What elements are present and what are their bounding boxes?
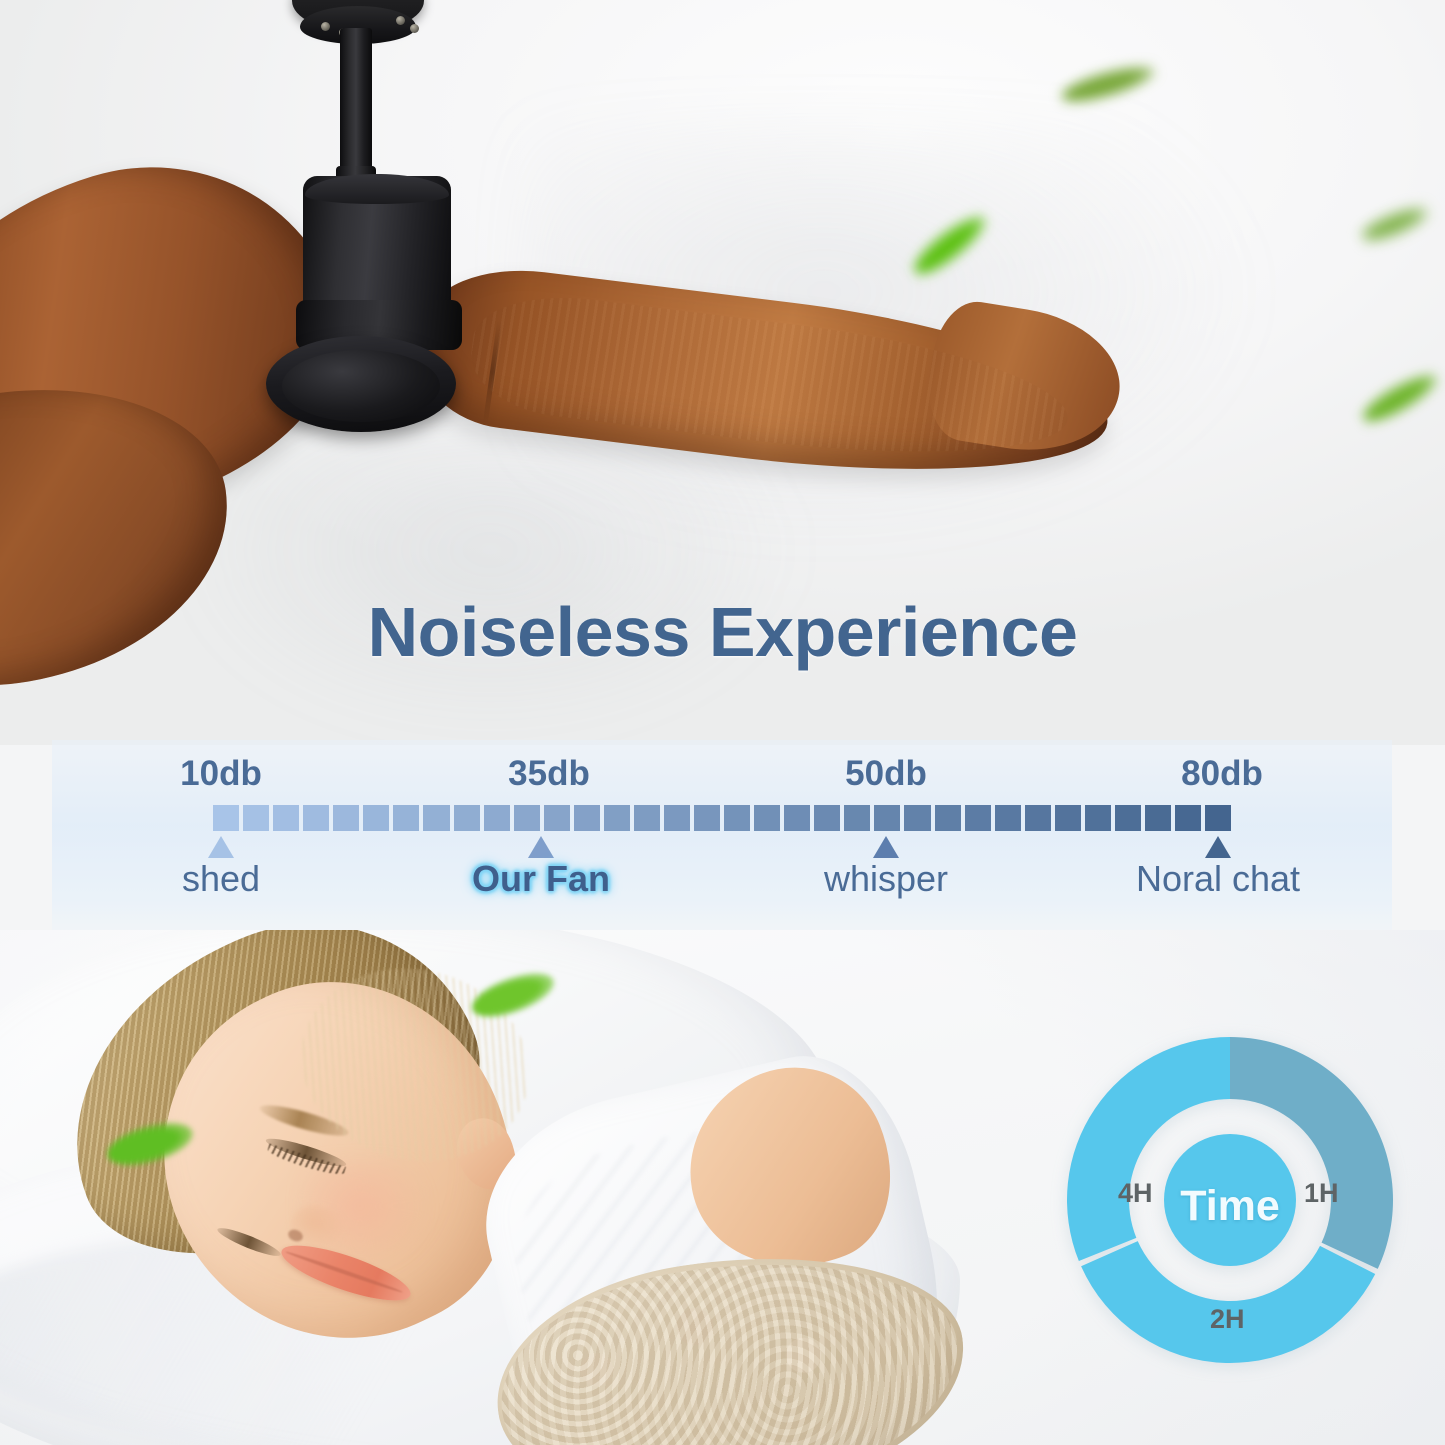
decibel-bar-segment <box>213 805 239 831</box>
decibel-label: 35db <box>508 754 590 794</box>
timer-hour-label: 1H <box>1304 1178 1339 1209</box>
decibel-bar-segment <box>1145 805 1171 831</box>
decibel-marker-row <box>0 836 1445 860</box>
decibel-label: 80db <box>1181 754 1263 794</box>
decibel-gradient-bar <box>213 805 1231 831</box>
floating-leaf-icon <box>1059 59 1158 109</box>
decibel-bar-segment <box>514 805 540 831</box>
product-feature-graphic: Noiseless Experience 10db35db50db80db sh… <box>0 0 1445 1445</box>
decibel-marker-triangle <box>528 836 554 858</box>
decibel-bar-segment <box>303 805 329 831</box>
noise-source-label: Noral chat <box>1136 858 1300 900</box>
wall-shadow-secondary <box>180 430 800 730</box>
decibel-bar-segment <box>874 805 900 831</box>
timer-hour-label: 4H <box>1118 1178 1153 1209</box>
decibel-bar-segment <box>1205 805 1231 831</box>
noise-source-label: whisper <box>824 858 948 900</box>
decibel-bar-segment <box>423 805 449 831</box>
decibel-bar-segment <box>333 805 359 831</box>
decibel-label-row: 10db35db50db80db <box>0 754 1445 802</box>
decibel-bar-segment <box>724 805 750 831</box>
noise-source-label: shed <box>182 858 260 900</box>
decibel-label: 10db <box>180 754 262 794</box>
canopy-screw <box>410 24 419 33</box>
decibel-bar-segment <box>243 805 269 831</box>
motor-disc-inner <box>282 350 440 422</box>
noise-source-label-highlighted: Our Fan <box>472 858 610 900</box>
decibel-bar-segment <box>574 805 600 831</box>
decibel-bar-segment <box>393 805 419 831</box>
floating-leaf-icon <box>1359 202 1431 247</box>
decibel-bar-segment <box>904 805 930 831</box>
canopy-screw <box>396 16 405 25</box>
decibel-bar-segment <box>784 805 810 831</box>
decibel-label: 50db <box>845 754 927 794</box>
decibel-bar-segment <box>754 805 780 831</box>
decibel-bar-segment <box>814 805 840 831</box>
decibel-bar-segment <box>363 805 389 831</box>
decibel-marker-triangle <box>208 836 234 858</box>
decibel-bar-segment <box>694 805 720 831</box>
timer-dial[interactable]: Time 4H1H2H <box>1062 1032 1398 1368</box>
decibel-bar-segment <box>634 805 660 831</box>
decibel-bar-segment <box>484 805 510 831</box>
timer-hour-label: 2H <box>1210 1304 1245 1335</box>
decibel-bar-segment <box>664 805 690 831</box>
timer-center-label: Time <box>1062 1182 1398 1231</box>
decibel-bar-segment <box>995 805 1021 831</box>
decibel-bar-segment <box>273 805 299 831</box>
decibel-marker-triangle <box>1205 836 1231 858</box>
decibel-bar-segment <box>604 805 630 831</box>
decibel-bar-segment <box>1085 805 1111 831</box>
noise-source-label-row: shedOur FanwhisperNoral chat <box>0 858 1445 906</box>
page-title: Noiseless Experience <box>0 592 1445 672</box>
decibel-bar-segment <box>544 805 570 831</box>
decibel-bar-segment <box>1025 805 1051 831</box>
decibel-marker-triangle <box>873 836 899 858</box>
decibel-bar-segment <box>1055 805 1081 831</box>
decibel-bar-segment <box>1175 805 1201 831</box>
floating-leaf-icon <box>1358 367 1443 430</box>
decibel-bar-segment <box>965 805 991 831</box>
decibel-bar-segment <box>1115 805 1141 831</box>
decibel-bar-segment <box>454 805 480 831</box>
decibel-bar-segment <box>935 805 961 831</box>
fan-downrod <box>340 28 372 183</box>
canopy-screw <box>321 22 330 31</box>
decibel-bar-segment <box>844 805 870 831</box>
